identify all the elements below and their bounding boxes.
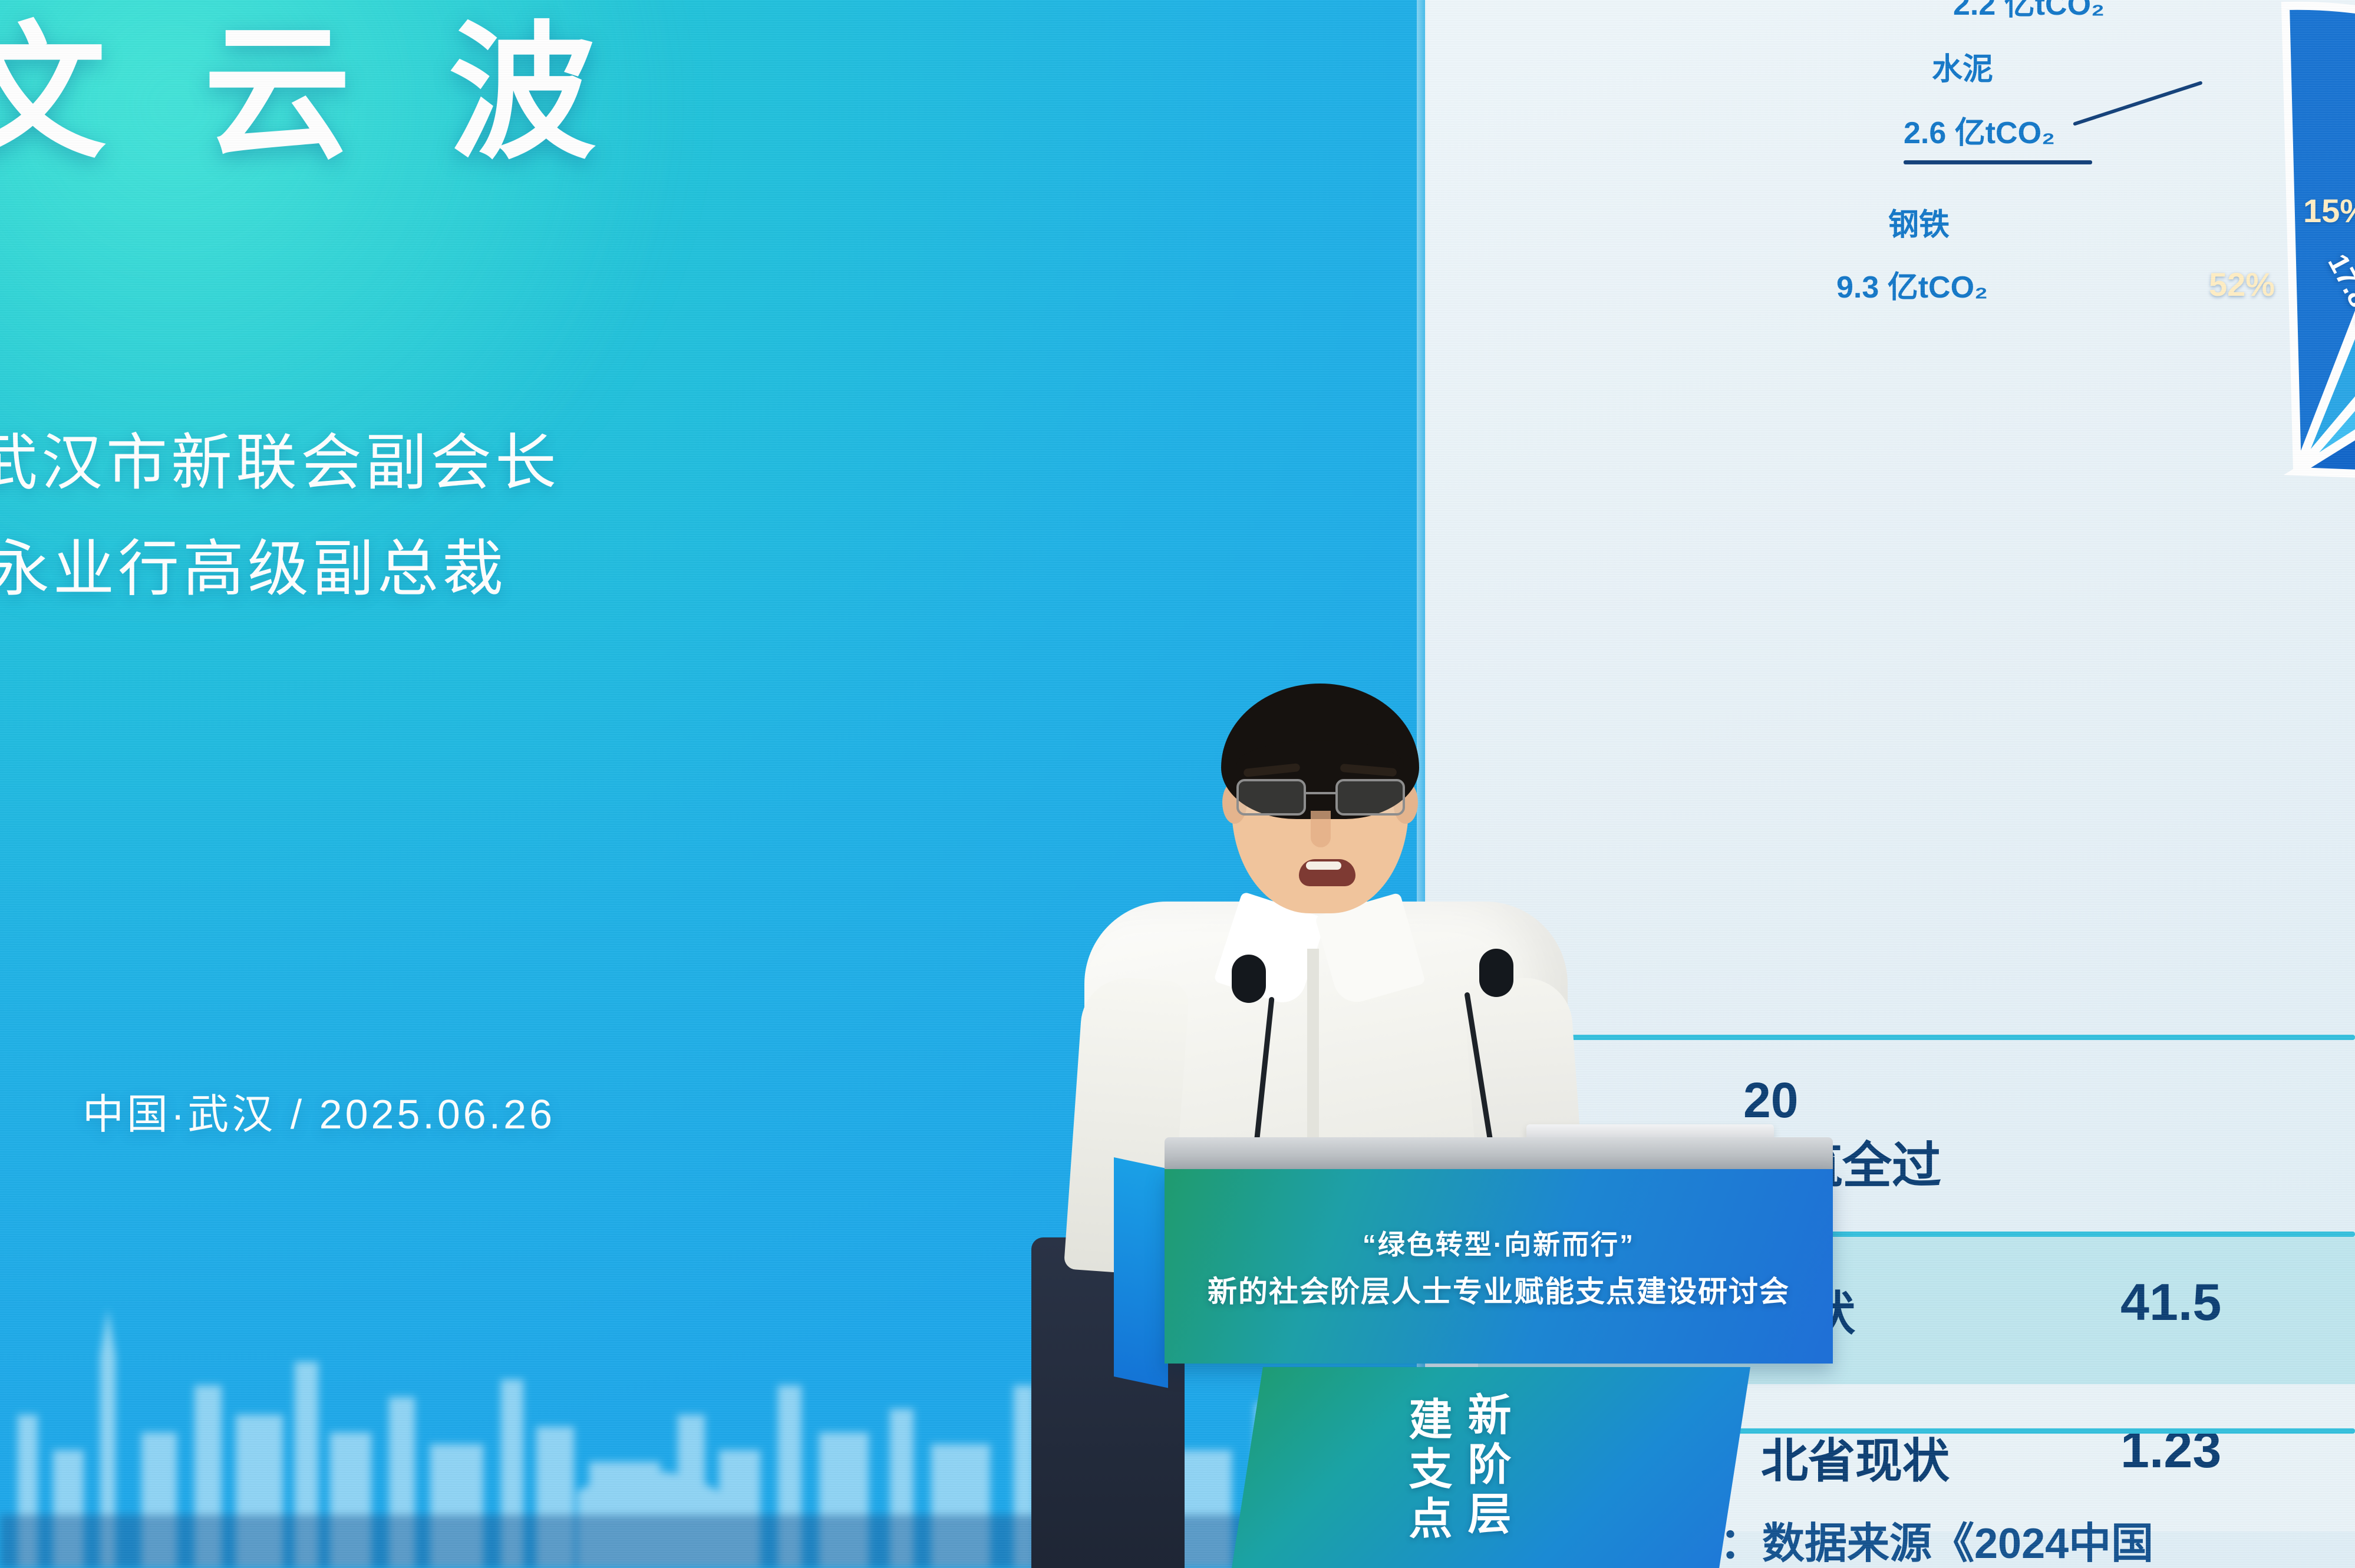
pie-label-steel: 钢铁 [1888, 206, 1950, 245]
lectern-front-panel: “绿色转型·向新而行” 新的社会阶层人士专业赋能支点建设研讨会 [1165, 1169, 1833, 1364]
table-row-value: 41.5 [2120, 1272, 2221, 1332]
mouth [1299, 859, 1355, 886]
lectern-vertical-text-left: 建支点 [1396, 1397, 1459, 1545]
glasses-bridge [1306, 792, 1335, 794]
mic-capsule [1232, 955, 1266, 1003]
event-subtitle: 新的社会阶层人士专业赋能支点建设研讨会 [1165, 1268, 1833, 1310]
lens-left [1236, 779, 1306, 816]
pie-label-cement: 水泥 [1932, 51, 1993, 89]
nose [1311, 811, 1331, 847]
pie-label-cement-value: 2.6 亿tCO₂ [1904, 114, 2055, 153]
emissions-pie-chart: 其他 1. 铝材 2.5 亿tCO₂ 2.2 亿tCO₂ 水泥 2.6 亿tCO… [1602, 0, 2355, 560]
lectern-side-panel [1114, 1157, 1168, 1388]
pie-label-secondary-value: 2.2 亿tCO₂ [1953, 0, 2105, 24]
slide-title-line1: 20 [1743, 1072, 1798, 1128]
venue-and-date: 中国·武汉 / 2025.06.26 [83, 1081, 555, 1141]
event-slogan: “绿色转型·向新而行” [1165, 1223, 1833, 1262]
speaker-name: 文 云 波 [0, 16, 624, 171]
pie-percent-steel: 52% [2209, 265, 2275, 303]
slide-title-line2: 建筑全过 [1743, 1137, 2355, 1195]
cement-label-underline [1904, 160, 2092, 164]
lectern: “绿色转型·向新而行” 新的社会阶层人士专业赋能支点建设研讨会 建支点 新阶层 [1114, 1137, 1833, 1568]
speaker-role-secondary: 永业行高级副总裁 [0, 519, 507, 608]
lectern-vertical-text-right: 新阶层 [1454, 1392, 1518, 1540]
mic-capsule [1479, 949, 1513, 997]
pie-percent-cement: 15% [2303, 192, 2355, 230]
speaker-role-primary: 武汉市新联会副会长 [0, 412, 560, 501]
presentation-stage-photo: 文 云 波 武汉市新联会副会长 永业行高级副总裁 中国·武汉 / 2025.06… [0, 0, 2355, 1568]
pie-label-steel-value: 9.3 亿tCO₂ [1836, 269, 1988, 307]
slide-title: 20 建筑全过 [1743, 1071, 2355, 1195]
slide-rule-top [1478, 1035, 2355, 1040]
lens-right [1335, 779, 1405, 816]
